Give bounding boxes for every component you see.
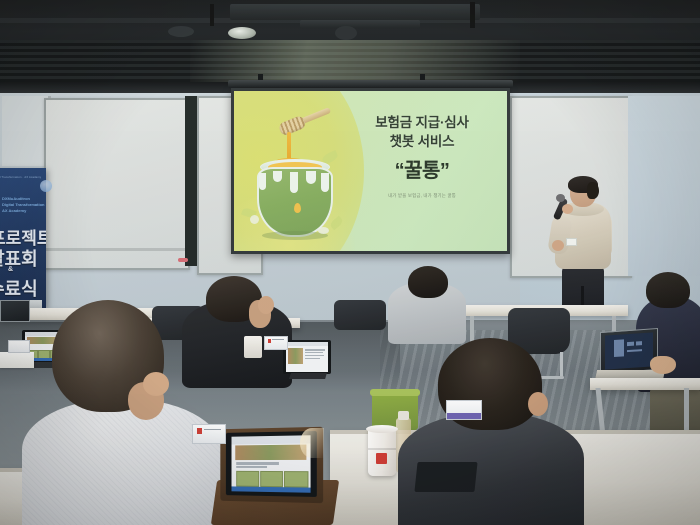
presentation-room-photo: Digital Transformation · AX Academy DXMu… [0, 0, 700, 525]
ceiling-vent [168, 26, 194, 37]
name-card-left [8, 340, 30, 353]
ceiling-duct-2 [300, 20, 420, 28]
name-card-front-right-accent [447, 413, 481, 419]
tablet-right-text-1 [305, 349, 326, 350]
tablet-foreground-footer [232, 486, 310, 492]
name-card-foreground [192, 424, 226, 444]
presenter-hand-on-mic [562, 204, 573, 214]
slide-heading-line-2: 챗봇 서비스 [346, 132, 498, 151]
tablet-right-page [286, 342, 327, 371]
chair-back-2 [334, 300, 386, 330]
paper-cup [368, 428, 396, 476]
tablet-foreground-browser-bar [232, 436, 310, 445]
waste-bin-rim [370, 389, 420, 396]
tablet-right-stand [289, 373, 327, 379]
ceiling-speaker [335, 26, 357, 40]
banner-subtitle-3: AX Academy [2, 208, 26, 213]
jar-drip-2 [273, 171, 282, 182]
tablet-right-text-3 [305, 355, 325, 356]
tablet-foreground-page [232, 436, 310, 493]
attendee-far-right-typing-hand [650, 356, 676, 374]
jar-drip-5 [321, 173, 329, 192]
slide-heading-line-1: 보험금 지급·심사 [346, 113, 498, 132]
laptop-far-left-screen[interactable] [0, 300, 30, 322]
paper-cup-logo-icon [376, 453, 387, 464]
right-wall-panel [628, 96, 700, 276]
tablet-right-hero-image [288, 348, 303, 364]
tablet-right-text-2 [305, 352, 323, 353]
name-card-foreground-logo [197, 428, 202, 434]
name-card-foreground-text [204, 429, 221, 431]
tablet-front-right[interactable] [414, 462, 477, 492]
presenter [548, 178, 618, 313]
slide-brand-name: “꿀통” [346, 154, 498, 183]
paper-cup-back [244, 336, 262, 358]
projector-screen-roller [228, 80, 513, 88]
slide-flower-1 [250, 215, 259, 224]
tablet-screen-glare [300, 428, 324, 458]
bottle-cap [398, 411, 409, 420]
tablet-foreground-card-1[interactable] [236, 470, 258, 486]
tablet-foreground-subheading [236, 466, 266, 468]
jar-drip-3 [290, 172, 298, 193]
laptop-content-panel-4 [627, 349, 642, 353]
whiteboard-panel-left [44, 98, 190, 270]
tablet-foreground-heading [236, 462, 279, 465]
banner-subtitle-2: Digital Transformation [2, 202, 44, 207]
paper-left [0, 352, 34, 368]
paper-cup-rim [366, 425, 398, 433]
desk-leg-right-2 [684, 388, 689, 430]
attendee-front-right-ear [528, 392, 548, 416]
paper-cup-seam [368, 448, 396, 450]
name-card-front-right [446, 400, 482, 420]
presenter-name-badge [566, 238, 577, 246]
jar-honey-droplet [294, 203, 301, 213]
slide-flower-2 [318, 227, 329, 234]
ceiling-duct [230, 4, 480, 20]
jar-white-drips [257, 167, 333, 197]
tablet-foreground-card-3[interactable] [284, 471, 308, 488]
ceiling-light-reflection [190, 40, 520, 85]
tablet-foreground-hero-image [236, 445, 306, 460]
name-card-logo [268, 339, 272, 343]
laptop-right-content [605, 333, 652, 370]
name-card-text [272, 339, 283, 340]
tablet-right[interactable] [283, 340, 331, 374]
banner-headline-3: 수료식 [0, 275, 38, 301]
tablet-foreground-card-2[interactable] [260, 471, 283, 488]
banner-micro-text: Digital Transformation · AX Academy [0, 176, 41, 179]
ceiling-rod-1 [210, 4, 214, 26]
honey-jar-illustration [248, 115, 340, 237]
dipper-head [278, 115, 307, 137]
attendee-far-right-head [646, 272, 690, 308]
wall-trim-dark [185, 96, 197, 266]
laptop-right-screen[interactable] [600, 328, 658, 374]
ceiling-downlight-1 [228, 27, 256, 39]
whiteboard-marker [178, 258, 188, 262]
banner-ampersand: & [8, 266, 13, 273]
jar-drip-1 [259, 173, 266, 190]
banner-headline-2: 발표회 [0, 245, 38, 271]
microphone-head [556, 194, 565, 202]
laptop-content-panel-3 [636, 341, 643, 346]
slide-subtitle: 내가 받을 보험금, 내가 챙기는 꿀통 [346, 193, 498, 199]
tablet-right-browser-bar [286, 342, 327, 346]
whiteboard-rail-left [44, 248, 186, 251]
banner-subtitle-1: DXMuAuditron [2, 196, 30, 201]
ceiling-rod-2 [470, 2, 475, 28]
laptop-content-panel-2 [627, 341, 634, 346]
presenter-other-hand [552, 240, 564, 251]
attendee-mid-center-head [408, 266, 448, 298]
projector-screen: 보험금 지급·심사 챗봇 서비스 “꿀통” 내가 받을 보험금, 내가 챙기는 … [234, 91, 507, 251]
attendee-mid-left-ear [258, 296, 274, 314]
jar-drip-4 [306, 171, 316, 184]
chair-leg-b [560, 352, 563, 378]
laptop-content-panel-1 [614, 339, 624, 357]
banner-logo-icon [40, 180, 52, 192]
slide-text-block: 보험금 지급·심사 챗봇 서비스 “꿀통” 내가 받을 보험금, 내가 챙기는 … [346, 113, 498, 199]
event-banner: Digital Transformation · AX Academy DXMu… [0, 168, 46, 308]
attendee-front-left-fist [143, 372, 169, 396]
tablet-right-text-4 [305, 358, 321, 359]
attendee-front-left-shirt-pattern [22, 398, 222, 525]
name-card-right [264, 336, 288, 350]
presenter-hair-back [587, 182, 599, 199]
